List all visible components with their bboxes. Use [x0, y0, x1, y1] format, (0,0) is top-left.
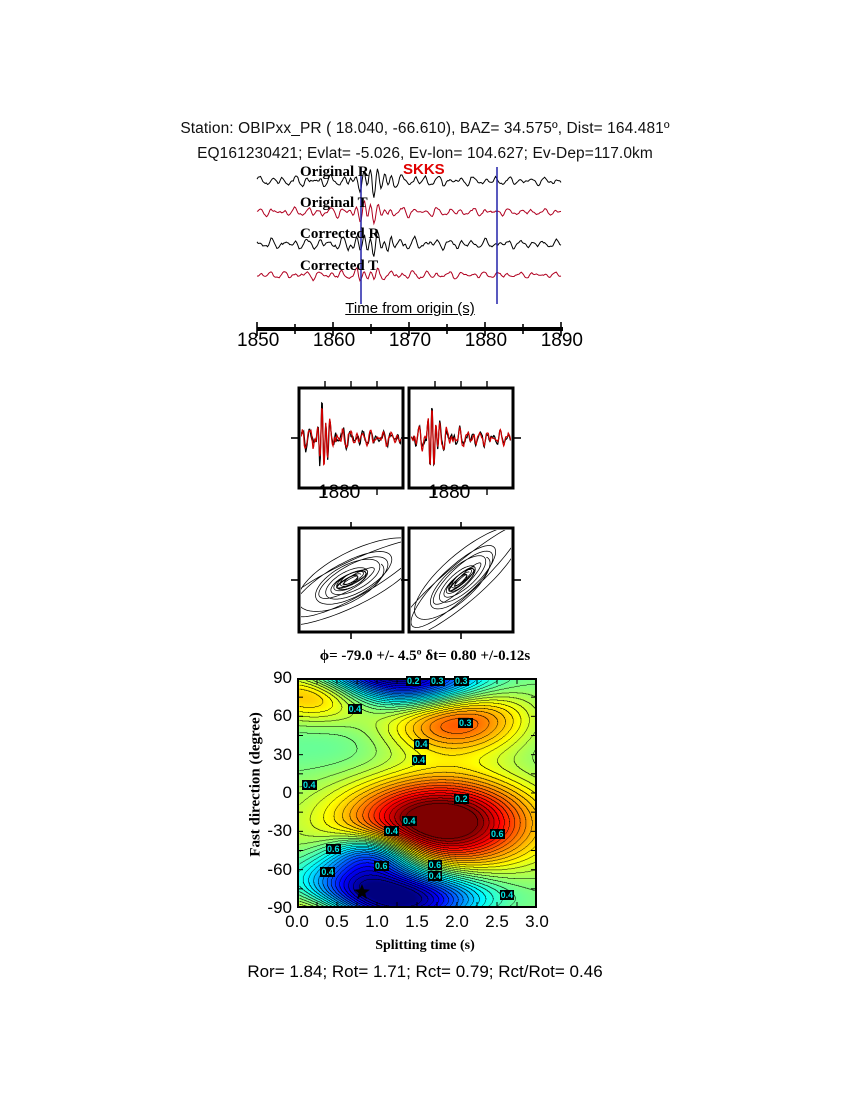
- station-info-line: Station: OBIPxx_PR ( 18.040, -66.610), B…: [0, 120, 850, 138]
- trace-label-corrected-t: Corrected T: [300, 258, 378, 275]
- x-tick-2.5: 2.5: [477, 912, 517, 932]
- contour-label: 0.4: [384, 826, 399, 836]
- energy-contour-plot: 0.20.30.30.40.30.40.40.40.20.40.40.60.60…: [297, 678, 537, 908]
- contour-label: 0.4: [320, 867, 335, 877]
- fast-slow-waveform-panels: 1880 1880: [290, 380, 540, 520]
- y-tick-60: 60: [240, 706, 292, 726]
- particle-motion-curves: [290, 522, 540, 644]
- time-tick-1860: 1860: [313, 330, 355, 352]
- y-tick-90: 90: [240, 668, 292, 688]
- mid-panel-right-tick-label: 1880: [428, 482, 470, 504]
- x-tick-2.0: 2.0: [437, 912, 477, 932]
- y-tick--60: -60: [240, 860, 292, 880]
- y-tick--30: -30: [240, 821, 292, 841]
- contour-label: 0.6: [326, 844, 341, 854]
- contour-label: 0.4: [402, 816, 417, 826]
- trace-label-original-t: Original T: [300, 195, 368, 212]
- contour-label: 0.6: [428, 860, 443, 870]
- contour-label: 0.2: [454, 794, 469, 804]
- contour-level-labels: 0.20.30.30.40.30.40.40.40.20.40.40.60.60…: [297, 678, 537, 908]
- time-axis: Time from origin (s) 1850186018701880189…: [255, 300, 565, 360]
- time-tick-1870: 1870: [389, 330, 431, 352]
- x-tick-0.5: 0.5: [317, 912, 357, 932]
- x-tick-3.0: 3.0: [517, 912, 557, 932]
- time-tick-1890: 1890: [541, 330, 583, 352]
- contour-label: 0.6: [490, 829, 505, 839]
- time-axis-tick-labels: 18501860187018801890: [237, 330, 583, 352]
- trace-label-corrected-r: Corrected R: [300, 226, 379, 243]
- time-tick-1850: 1850: [237, 330, 279, 352]
- contour-label: 0.2: [406, 676, 421, 686]
- figure-page: Station: OBIPxx_PR ( 18.040, -66.610), B…: [0, 0, 850, 1100]
- y-tick-0: 0: [240, 783, 292, 803]
- phase-label-skks: SKKS: [403, 161, 445, 178]
- fast-slow-traces: [290, 380, 540, 495]
- time-axis-title: Time from origin (s): [255, 300, 565, 317]
- quality-metrics-line: Ror= 1.84; Rot= 1.71; Rct= 0.79; Rct/Rot…: [0, 962, 850, 982]
- contour-label: 0.4: [500, 890, 515, 900]
- contour-label: 0.4: [414, 739, 429, 749]
- x-tick-1.0: 1.0: [357, 912, 397, 932]
- contour-label: 0.3: [454, 676, 469, 686]
- splitting-result-title: ϕ= -79.0 +/- 4.5º δt= 0.80 +/-0.12s: [0, 648, 850, 665]
- contour-label: 0.4: [302, 780, 317, 790]
- contour-label: 0.6: [374, 861, 389, 871]
- trace-label-original-r: Original R: [300, 164, 369, 181]
- mid-panel-left-tick-label: 1880: [318, 482, 360, 504]
- contour-label: 0.4: [428, 871, 443, 881]
- waveform-stack: Original R Original T Corrected R Correc…: [255, 163, 565, 308]
- particle-motion-panels: [290, 522, 540, 644]
- contour-label: 0.3: [430, 676, 445, 686]
- contour-x-axis-label: Splitting time (s): [0, 938, 850, 954]
- x-tick-1.5: 1.5: [397, 912, 437, 932]
- contour-label: 0.3: [458, 718, 473, 728]
- time-tick-1880: 1880: [465, 330, 507, 352]
- x-tick-0.0: 0.0: [277, 912, 317, 932]
- y-tick-30: 30: [240, 745, 292, 765]
- contour-label: 0.4: [348, 704, 363, 714]
- contour-label: 0.4: [412, 755, 427, 765]
